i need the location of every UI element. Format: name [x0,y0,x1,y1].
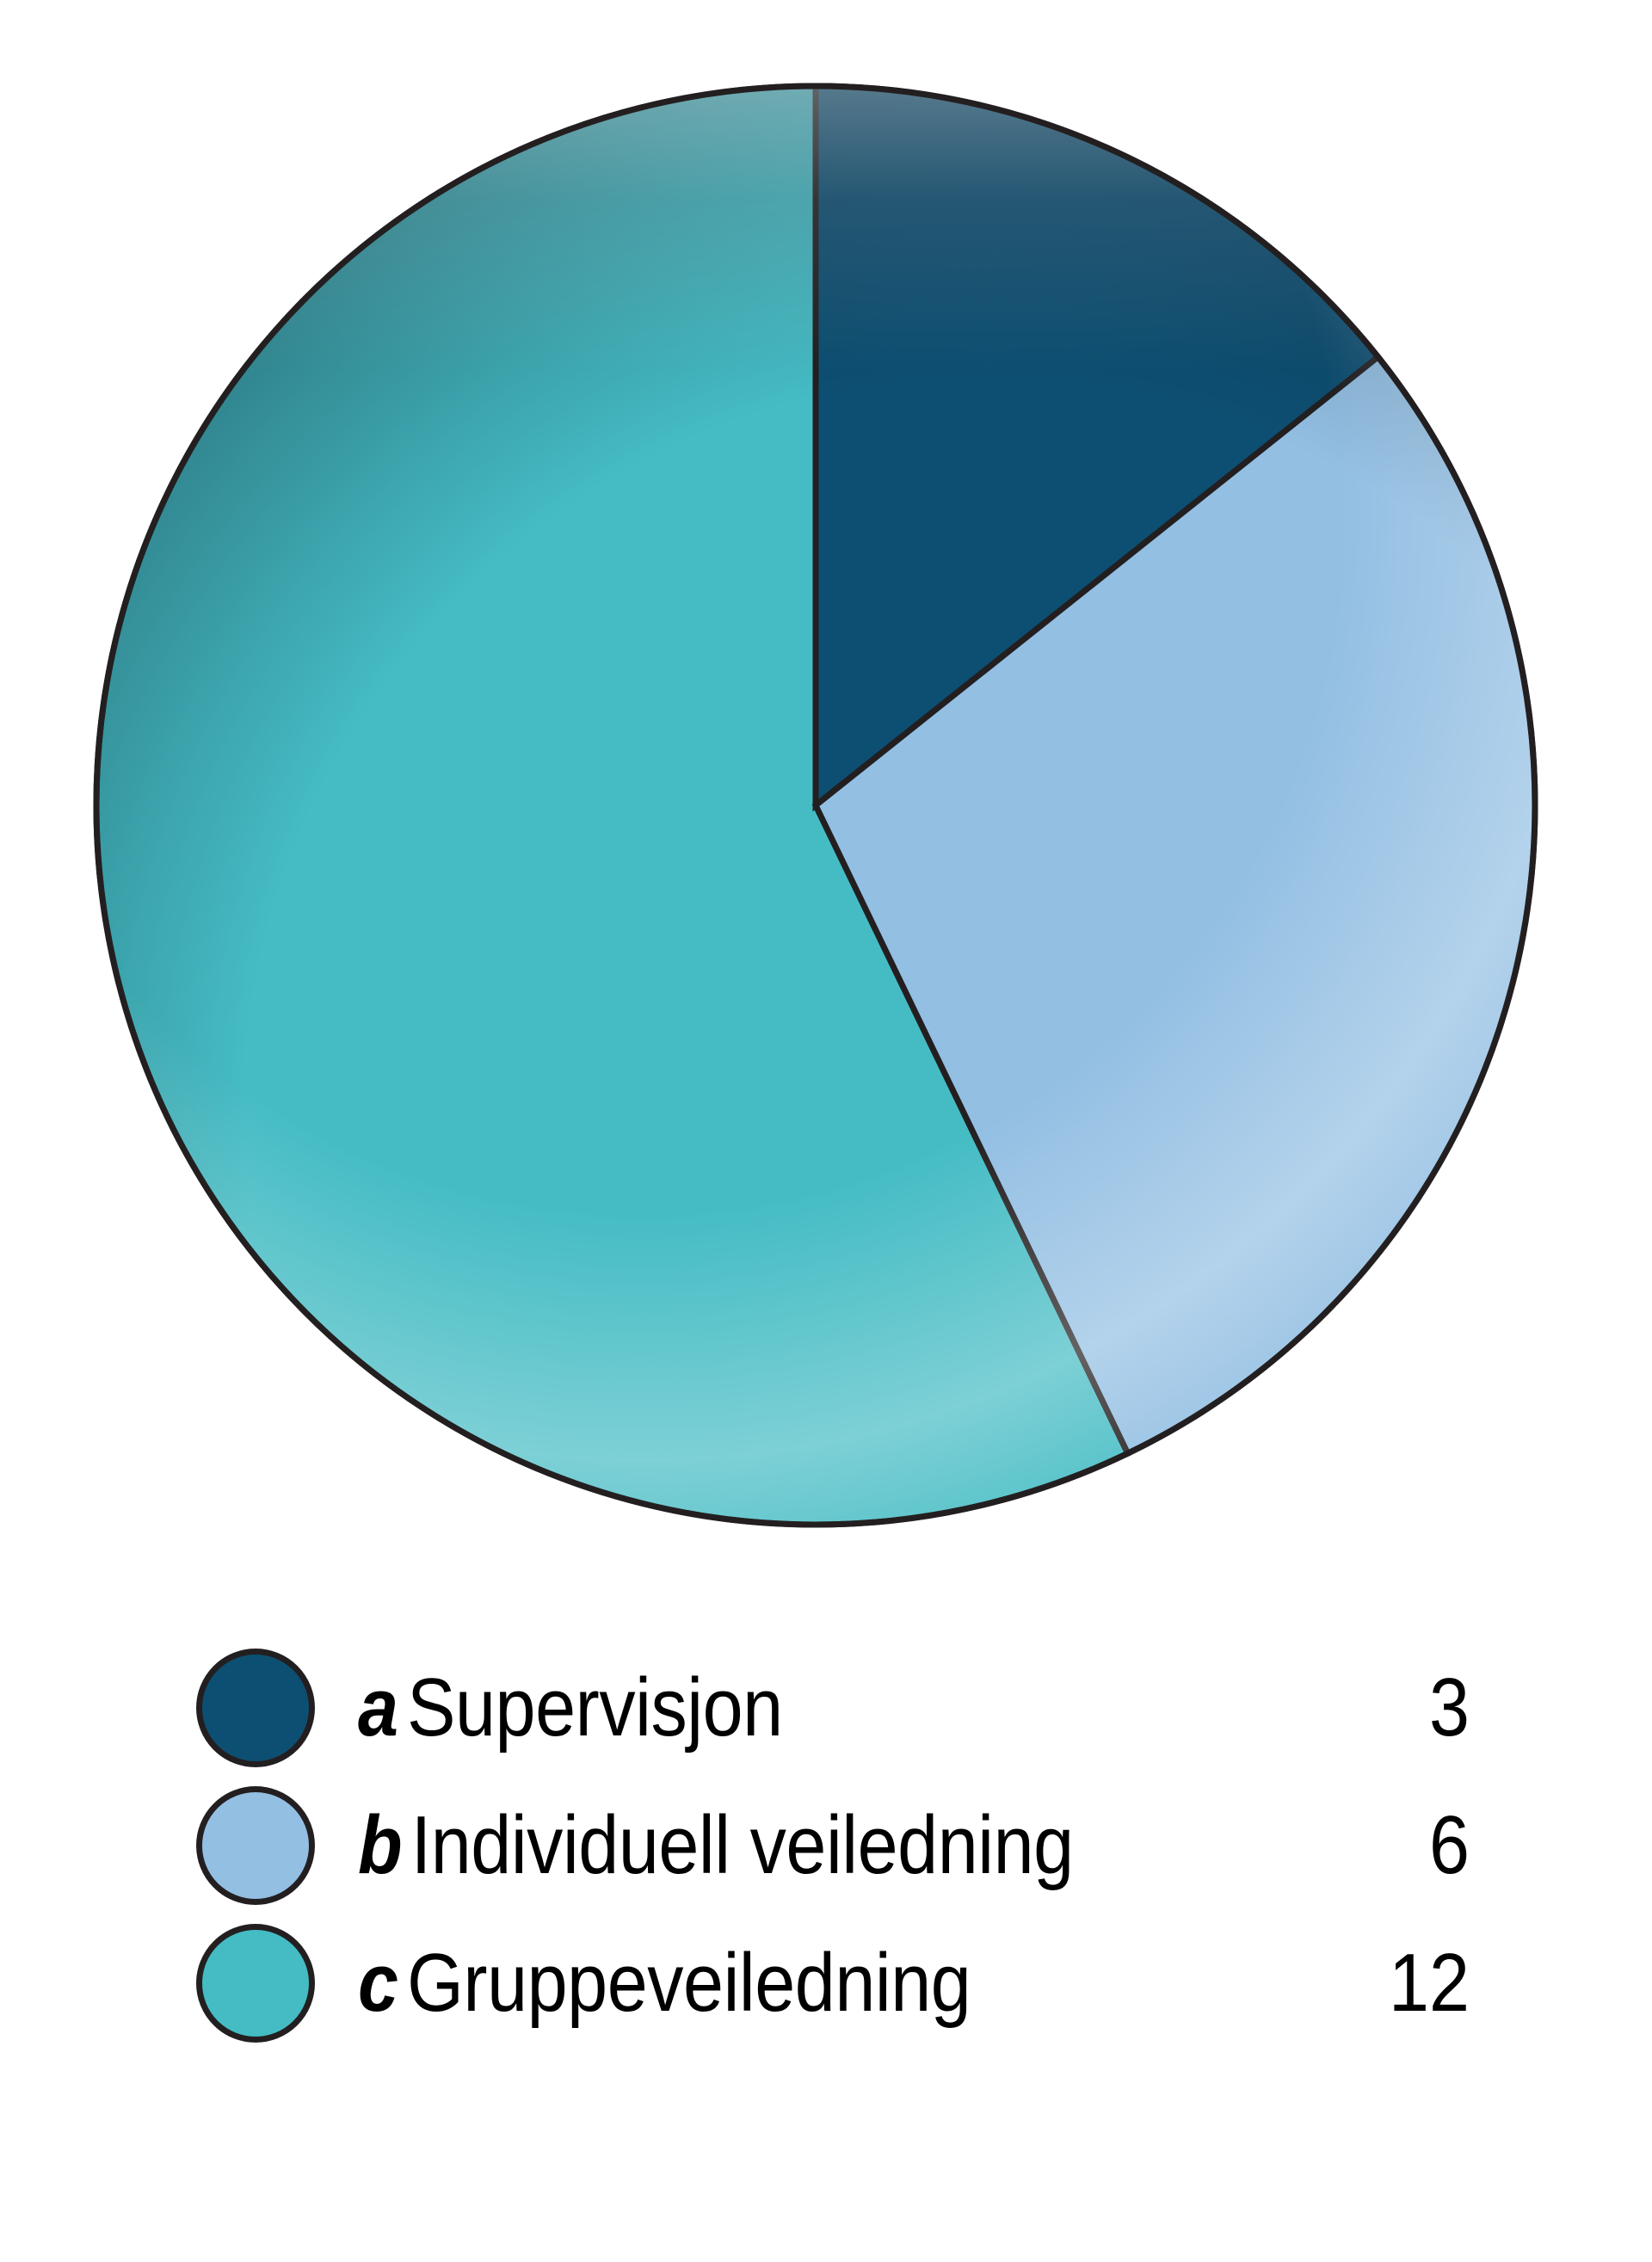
legend: aSupervisjon 3 bIndividuell veiledning 6… [196,1639,1470,2052]
legend-label-a: aSupervisjon [358,1667,1215,1749]
legend-name-a: Supervisjon [407,1661,783,1754]
legend-name-b: Individuell veiledning [411,1799,1074,1891]
legend-item-supervisjon[interactable]: aSupervisjon 3 [196,1639,1470,1777]
legend-value-a: 3 [1348,1667,1470,1749]
legend-key-c: c [358,1937,398,2029]
legend-label-b: bIndividuell veiledning [358,1804,1215,1887]
pie-gloss-overlay [96,83,1535,1525]
legend-item-individuell-veiledning[interactable]: bIndividuell veiledning 6 [196,1777,1470,1914]
legend-swatch-icon-b [196,1786,315,1905]
legend-key-b: b [358,1799,402,1891]
legend-swatch-icon-c [196,1924,315,2043]
legend-label-c: cGruppeveiledning [358,1942,1215,2025]
legend-value-b: 6 [1348,1804,1470,1887]
pie-svg [93,83,1538,1528]
legend-name-c: Gruppeveiledning [407,1937,971,2029]
pie-chart-figure: aSupervisjon 3 bIndividuell veiledning 6… [0,0,1652,2262]
legend-swatch-icon-a [196,1649,315,1767]
legend-key-a: a [358,1661,398,1754]
pie-chart-graphic [93,83,1538,1528]
legend-item-gruppeveiledning[interactable]: cGruppeveiledning 12 [196,1914,1470,2052]
legend-value-c: 12 [1348,1942,1470,2025]
